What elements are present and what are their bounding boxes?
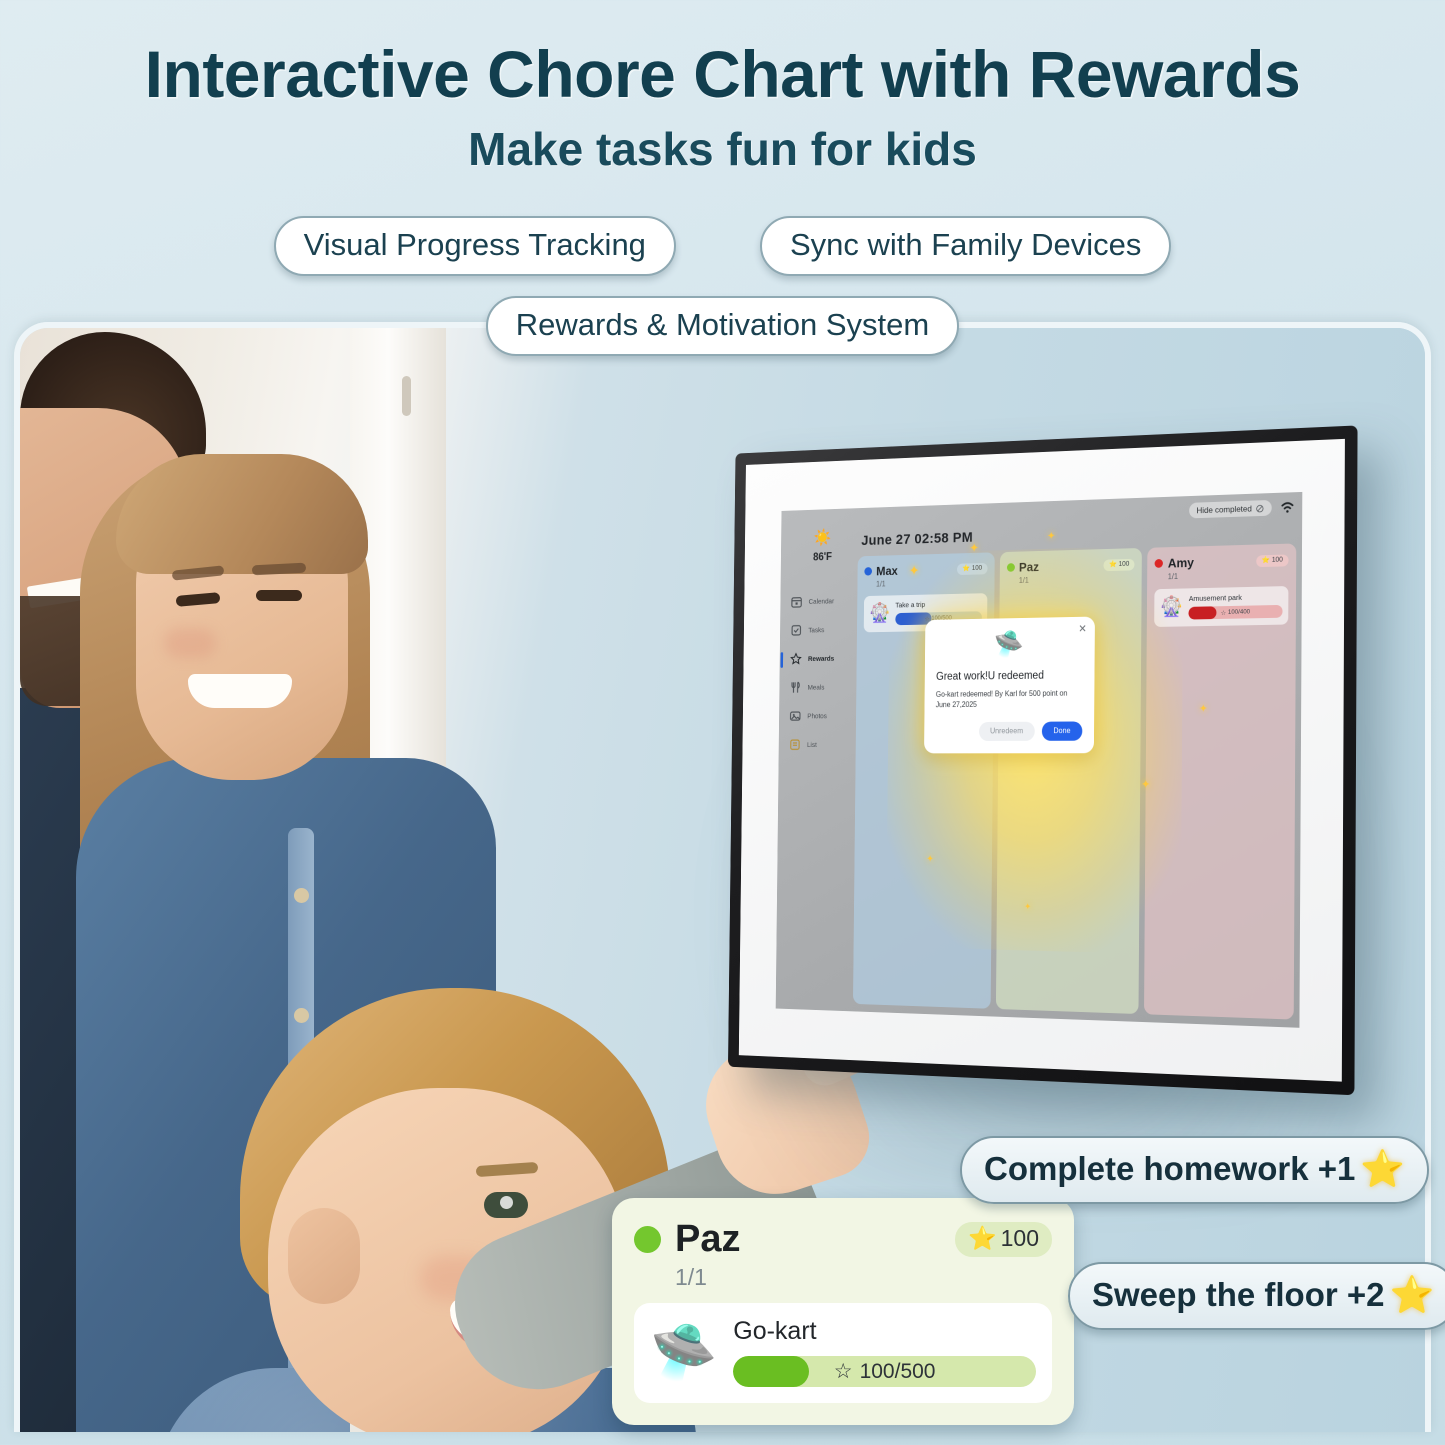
reward-task-card[interactable]: 🛸 Go-kart ☆ 100/500 <box>634 1303 1052 1403</box>
kid-name: Amy <box>1168 555 1194 570</box>
mother-smile <box>188 674 292 708</box>
wifi-icon[interactable] <box>1280 501 1294 513</box>
progress-label: 100/500 <box>860 1360 936 1384</box>
marketing-header: Interactive Chore Chart with Rewards Mak… <box>0 0 1445 322</box>
modal-title: Great work!U redeemed <box>936 670 1083 683</box>
task-details: Go-kart ☆ 100/500 <box>733 1317 1036 1387</box>
app-topbar: Hide completed <box>1189 499 1295 518</box>
kid-color-dot <box>864 567 872 576</box>
app-sidebar: Calendar Tasks <box>784 586 856 759</box>
points-badge: ⭐ 100 <box>1256 554 1289 567</box>
reward-redeemed-modal[interactable]: ✕ 🛸 Great work!U redeemed Go-kart redeem… <box>924 617 1095 753</box>
sidebar-item-label: Meals <box>808 683 825 691</box>
task-count: 1/1 <box>1168 569 1289 581</box>
go-kart-icon: 🛸 <box>650 1323 717 1381</box>
kid-identity: Max <box>864 564 898 579</box>
column-header: Paz ⭐ 100 <box>1007 557 1135 575</box>
progress-label-wrap: ☆ 100/400 <box>1189 605 1283 620</box>
modal-body-text: Go-kart redeemed! By Karl for 500 point … <box>936 688 1083 711</box>
tv-inner-mat: Hide completed <box>739 439 1345 1082</box>
progress-bar: ☆ 100/500 <box>733 1356 1036 1387</box>
feature-pill-visual-progress[interactable]: Visual Progress Tracking <box>274 216 676 276</box>
callout-sweep-floor[interactable]: Sweep the floor +2 ⭐ <box>1068 1262 1445 1330</box>
paz-card-header: Paz ⭐ 100 <box>634 1218 1052 1261</box>
sidebar-item-meals[interactable]: Meals <box>784 672 855 701</box>
eye-off-icon <box>1256 504 1265 513</box>
utensils-icon <box>789 680 802 694</box>
feature-pill-row-2: Rewards & Motivation System <box>0 296 1445 356</box>
photo-icon <box>789 709 802 723</box>
kid-column-amy[interactable]: Amy ⭐ 100 1/1 🎡 A <box>1144 543 1296 1019</box>
sparkle-icon: ✦ <box>1047 531 1055 542</box>
kid-identity: Paz <box>1007 560 1039 575</box>
mother-eye <box>256 590 302 601</box>
unredeem-button[interactable]: Unredeem <box>979 721 1035 740</box>
hide-completed-toggle[interactable]: Hide completed <box>1189 500 1272 518</box>
sidebar-item-list[interactable]: List <box>784 730 855 759</box>
done-button[interactable]: Done <box>1042 721 1083 740</box>
calendar-icon <box>790 595 803 609</box>
date-time-label: June 27 02:58 PM <box>861 529 973 548</box>
sidebar-item-label: Calendar <box>809 597 835 606</box>
column-header: Max ⭐ 100 <box>864 561 987 578</box>
callout-complete-homework[interactable]: Complete homework +1 ⭐ <box>960 1136 1429 1204</box>
page-subtitle: Make tasks fun for kids <box>0 122 1445 176</box>
kid-name: Paz <box>675 1218 740 1261</box>
sidebar-item-label: List <box>807 740 817 748</box>
star-icon: ⭐ <box>962 564 970 572</box>
star-icon: ⭐ <box>1360 1148 1405 1190</box>
progress-label-wrap: ☆ 100/500 <box>733 1356 1036 1387</box>
sun-icon: ☀️ <box>791 529 855 548</box>
feature-pill-rewards-system[interactable]: Rewards & Motivation System <box>486 296 959 356</box>
page-title: Interactive Chore Chart with Rewards <box>0 36 1445 112</box>
points-badge: ⭐ 100 <box>955 1222 1052 1257</box>
sidebar-item-label: Rewards <box>808 654 834 663</box>
paz-identity: Paz <box>634 1218 740 1261</box>
kid-identity: Amy <box>1155 555 1194 571</box>
shirt-button <box>294 888 309 903</box>
task-title: Go-kart <box>733 1317 1036 1346</box>
progress-label: 100/400 <box>1228 609 1250 616</box>
list-icon <box>789 738 802 752</box>
kid-color-dot <box>634 1226 661 1253</box>
temperature-label: 86'F <box>791 551 855 564</box>
star-icon: ⭐ <box>968 1225 997 1252</box>
sidebar-item-calendar[interactable]: Calendar <box>785 586 856 616</box>
task-details: Amusement park ☆ 100/400 <box>1189 592 1283 619</box>
star-outline-icon: ☆ <box>834 1359 853 1384</box>
points-value: 100 <box>972 564 982 571</box>
weather-widget: ☀️ 86'F <box>791 529 855 564</box>
callout-label: Sweep the floor +2 <box>1092 1276 1385 1314</box>
reward-task-card[interactable]: 🎡 Amusement park ☆ 100/400 <box>1154 586 1288 627</box>
kid-name: Paz <box>1019 560 1039 575</box>
points-value: 100 <box>1119 560 1130 567</box>
points-value: 100 <box>1001 1225 1039 1252</box>
child-ear <box>288 1208 360 1304</box>
star-icon: ⭐ <box>1109 560 1117 568</box>
star-outline-icon: ☆ <box>1221 609 1227 617</box>
task-title: Amusement park <box>1189 592 1283 603</box>
task-title: Take a trip <box>895 599 981 609</box>
sidebar-item-rewards[interactable]: Rewards <box>785 644 856 674</box>
kid-columns: Max ⭐ 100 1/1 🎡 T <box>853 543 1296 1019</box>
mother-fringe <box>116 454 368 574</box>
sidebar-item-tasks[interactable]: Tasks <box>785 615 856 645</box>
close-icon[interactable]: ✕ <box>1078 622 1086 635</box>
points-badge: ⭐ 100 <box>1103 558 1134 570</box>
sidebar-item-photos[interactable]: Photos <box>784 701 855 730</box>
sidebar-item-label: Photos <box>807 712 827 720</box>
ferris-wheel-icon: 🎡 <box>1160 596 1183 618</box>
points-value: 100 <box>1272 556 1283 563</box>
task-count: 1/1 <box>876 577 987 588</box>
points-badge: ⭐ 100 <box>957 562 987 574</box>
modal-actions: Unredeem Done <box>935 721 1082 741</box>
progress-bar: ☆ 100/400 <box>1189 605 1283 620</box>
feature-pill-row-1: Visual Progress Tracking Sync with Famil… <box>0 216 1445 276</box>
shirt-button <box>294 1008 309 1023</box>
mother-cheek-blush <box>164 628 216 658</box>
tv-bezel: Hide completed <box>728 425 1358 1095</box>
callout-label: Complete homework +1 <box>984 1150 1355 1188</box>
ferris-wheel-icon: 🎡 <box>869 603 890 624</box>
child-eye-highlight <box>500 1196 513 1209</box>
paz-reward-card[interactable]: Paz ⭐ 100 1/1 🛸 Go-kart ☆ 100/500 <box>612 1198 1074 1425</box>
sidebar-item-label: Tasks <box>808 626 824 635</box>
tasks-icon <box>790 623 803 637</box>
kid-name: Max <box>876 564 898 579</box>
chore-chart-app-screen[interactable]: Hide completed <box>776 492 1303 1028</box>
column-header: Amy ⭐ 100 <box>1155 553 1289 571</box>
task-count: 1/1 <box>675 1264 1052 1291</box>
task-count: 1/1 <box>1019 573 1135 585</box>
kid-color-dot <box>1155 559 1163 568</box>
wall-mounted-display: Hide completed <box>728 425 1358 1095</box>
star-outline-icon <box>790 652 803 666</box>
star-icon: ⭐ <box>1262 556 1270 564</box>
kid-color-dot <box>1007 563 1015 572</box>
go-kart-icon: 🛸 <box>936 627 1083 660</box>
door-handle <box>402 376 411 416</box>
hide-completed-label: Hide completed <box>1196 504 1251 516</box>
star-icon: ⭐ <box>1390 1274 1435 1316</box>
feature-pill-sync-devices[interactable]: Sync with Family Devices <box>760 216 1171 276</box>
